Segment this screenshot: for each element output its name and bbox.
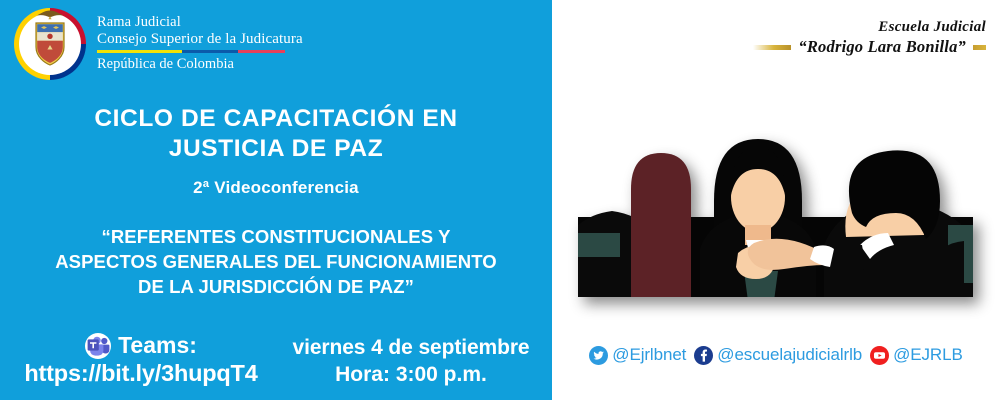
youtube-icon — [870, 346, 889, 365]
escuela-judicial-wordmark: Escuela Judicial “Rodrigo Lara Bonilla” — [753, 18, 986, 57]
gold-bar-right-decoration — [973, 45, 986, 50]
event-headline-line-2: JUSTICIA DE PAZ — [0, 134, 552, 164]
event-topic-line-3: DE LA JURISDICCIÓN DE PAZ” — [0, 274, 552, 299]
social-item-facebook[interactable]: @escuelajudicialrlb — [694, 345, 862, 365]
microsoft-teams-icon — [85, 333, 111, 359]
event-flyer: Rama Judicial Consejo Superior de la Jud… — [0, 0, 1000, 400]
teams-platform-row: Teams: — [8, 332, 274, 359]
event-headline: CICLO DE CAPACITACIÓN EN JUSTICIA DE PAZ — [0, 104, 552, 164]
join-link-block[interactable]: Teams: https://bit.ly/3hupqT4 — [8, 332, 274, 387]
event-topic-line-2: ASPECTOS GENERALES DEL FUNCIONAMIENTO — [0, 249, 552, 274]
institution-line-1: Rama Judicial — [97, 14, 303, 31]
facebook-icon — [694, 346, 713, 365]
institution-line-3: República de Colombia — [97, 56, 303, 73]
judges-panel-illustration — [578, 85, 973, 297]
twitter-handle[interactable]: @Ejrlbnet — [612, 345, 686, 365]
teams-meeting-url[interactable]: https://bit.ly/3hupqT4 — [8, 360, 274, 387]
event-topic: “REFERENTES CONSTITUCIONALES Y ASPECTOS … — [0, 224, 552, 299]
colombia-tricolor-rule — [97, 50, 285, 53]
escuela-judicial-line-1: Escuela Judicial — [753, 18, 986, 36]
event-time: Hora: 3:00 p.m. — [278, 363, 544, 387]
gold-bar-left-decoration — [753, 45, 791, 50]
facebook-handle[interactable]: @escuelajudicialrlb — [717, 345, 862, 365]
institution-name-block: Rama Judicial Consejo Superior de la Jud… — [97, 8, 303, 73]
escuela-judicial-line-2: “Rodrigo Lara Bonilla” — [798, 37, 966, 57]
social-item-twitter[interactable]: @Ejrlbnet — [589, 345, 686, 365]
event-session-number: 2ª Videoconferencia — [0, 178, 552, 198]
event-date: viernes 4 de septiembre — [278, 336, 544, 360]
social-item-youtube[interactable]: @EJRLB — [870, 345, 963, 365]
youtube-handle[interactable]: @EJRLB — [893, 345, 963, 365]
twitter-icon — [589, 346, 608, 365]
event-topic-line-1: “REFERENTES CONSTITUCIONALES Y — [0, 224, 552, 249]
institution-line-2: Consejo Superior de la Judicatura — [97, 31, 303, 48]
event-headline-line-1: CICLO DE CAPACITACIÓN EN — [0, 104, 552, 134]
event-datetime-block: viernes 4 de septiembre Hora: 3:00 p.m. — [278, 336, 544, 387]
left-blue-panel: Rama Judicial Consejo Superior de la Jud… — [0, 0, 552, 400]
teams-platform-label: Teams: — [118, 332, 197, 359]
colombia-coat-of-arms-icon — [14, 8, 86, 80]
social-media-row: @Ejrlbnet @escuelajudicialrlb @EJRLB — [552, 345, 1000, 365]
right-white-panel: Escuela Judicial “Rodrigo Lara Bonilla” — [552, 0, 1000, 400]
institution-logo-lockup: Rama Judicial Consejo Superior de la Jud… — [14, 8, 303, 80]
